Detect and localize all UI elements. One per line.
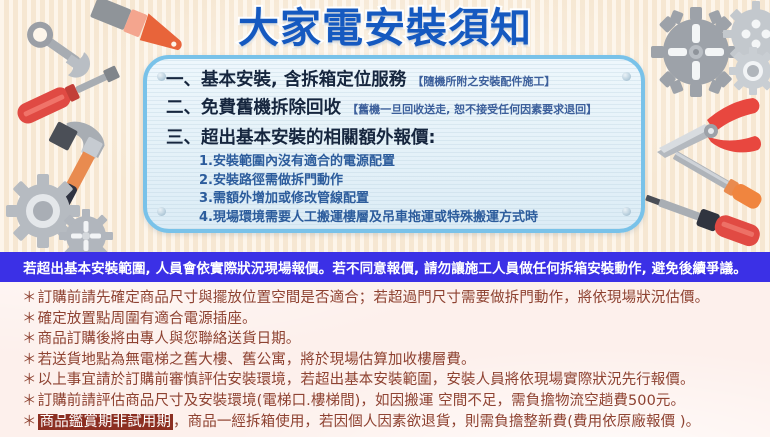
screwdriver-icon — [10, 65, 130, 125]
panel-sub-item: 3.需額外增加或修改管線配置 — [199, 190, 629, 209]
note-bullet: ＊ — [22, 414, 37, 430]
panel-item-2-main: 二、免費舊機拆除回收 — [166, 98, 341, 118]
panel-item-2-note: 【舊機一旦回收送走, 恕不接受任何因素要求退回】 — [347, 103, 597, 116]
warning-banner: 若超出基本安裝範圍, 人員會依實際狀況現場報價。若不同意報價, 請勿讓施工人員做… — [0, 252, 770, 282]
panel-item-1-main: 一、基本安裝, 含拆箱定位服務 — [166, 70, 406, 90]
note-bullet: ＊ — [22, 372, 37, 388]
note-text: 訂購前請先確定商品尺寸與擺放位置空間是否適合；若超過門尺寸需要做拆門動作，將依現… — [38, 290, 710, 306]
panel-sub-item: 2.安裝路徑需做拆門動作 — [199, 172, 629, 191]
note-item: ＊商品訂購後將由專人與您聯絡送貨日期。 — [22, 329, 764, 350]
panel-content: 一、基本安裝, 含拆箱定位服務 【隨機所附之安裝配件施工】 二、免費舊機拆除回收… — [166, 67, 629, 227]
panel-item-1: 一、基本安裝, 含拆箱定位服務 【隨機所附之安裝配件施工】 — [166, 67, 629, 95]
panel-sub-item: 4.現場環境需要人工搬運樓層及吊車拖運或特殊搬運方式時 — [199, 209, 629, 228]
note-bullet: ＊ — [22, 393, 37, 409]
note-text: 商品訂購後將由專人與您聯絡送貨日期。 — [38, 331, 301, 347]
note-item: ＊訂購前請評估商品尺寸及安裝環境(電梯口.樓梯間)，如因搬運 空間不足，需負擔物… — [22, 391, 764, 412]
note-bullet: ＊ — [22, 331, 37, 347]
note-bullet: ＊ — [22, 290, 37, 306]
note-item: ＊若送貨地點為無電梯之舊大樓、舊公寓，將於現場估算加收樓層費。 — [22, 350, 764, 371]
panel-item-1-note: 【隨機所附之安裝配件施工】 — [412, 75, 555, 88]
note-bullet: ＊ — [22, 311, 37, 327]
panel-section-heading: 三、超出基本安裝的相關額外報價: — [166, 124, 629, 153]
notes-list: ＊訂購前請先確定商品尺寸與擺放位置空間是否適合；若超過門尺寸需要做拆門動作，將依… — [22, 288, 764, 432]
note-item: ＊訂購前請先確定商品尺寸與擺放位置空間是否適合；若超過門尺寸需要做拆門動作，將依… — [22, 288, 764, 309]
gear-icon — [728, 46, 770, 96]
notes-section: ＊訂購前請先確定商品尺寸與擺放位置空間是否適合；若超過門尺寸需要做拆門動作，將依… — [0, 282, 770, 437]
panel-item-2: 二、免費舊機拆除回收 【舊機一旦回收送走, 恕不接受任何因素要求退回】 — [166, 95, 629, 123]
note-text: 訂購前請評估商品尺寸及安裝環境(電梯口.樓梯間)，如因搬運 空間不足，需負擔物流… — [38, 393, 686, 409]
page-title-text: 大家電安裝須知 — [238, 4, 532, 52]
note-item: ＊確定放置點周圍有適合電源插座。 — [22, 309, 764, 330]
note-highlight: 商品鑑賞期非試用期 — [38, 414, 173, 430]
page-title: 大家電安裝須知 — [0, 4, 770, 52]
service-panel: 一、基本安裝, 含拆箱定位服務 【隨機所附之安裝配件施工】 二、免費舊機拆除回收… — [143, 55, 645, 233]
panel-sub-item: 1.安裝範圍內沒有適合的電源配置 — [199, 153, 629, 172]
note-text: 以上事宜請於訂購前審慎評估安裝環境，若超出基本安裝範圍，安裝人員將依現場實際狀況… — [38, 372, 695, 388]
note-item: ＊以上事宜請於訂購前審慎評估安裝環境，若超出基本安裝範圍，安裝人員將依現場實際狀… — [22, 370, 764, 391]
rivet-icon — [157, 207, 166, 216]
rivet-icon — [157, 72, 166, 81]
note-bullet: ＊ — [22, 352, 37, 368]
note-item-highlighted: ＊商品鑑賞期非試用期，商品一經拆箱使用，若因個人因素欲退貨，則需負擔整新費(費用… — [22, 412, 764, 433]
warning-banner-text: 若超出基本安裝範圍, 人員會依實際狀況現場報價。若不同意報價, 請勿讓施工人員做… — [23, 257, 747, 277]
note-text: 若送貨地點為無電梯之舊大樓、舊公寓，將於現場估算加收樓層費。 — [38, 352, 476, 368]
note-text: 確定放置點周圍有適合電源插座。 — [38, 311, 257, 327]
poster: 大家電安裝須知 一、基本安裝, 含拆箱定位服務 【隨機所附之安裝配件施工】 二、… — [0, 0, 770, 437]
screwdriver-icon — [640, 190, 770, 250]
note-text: ，商品一經拆箱使用，若因個人因素欲退貨，則需負擔整新費(費用依原廠報價 )。 — [173, 414, 700, 430]
